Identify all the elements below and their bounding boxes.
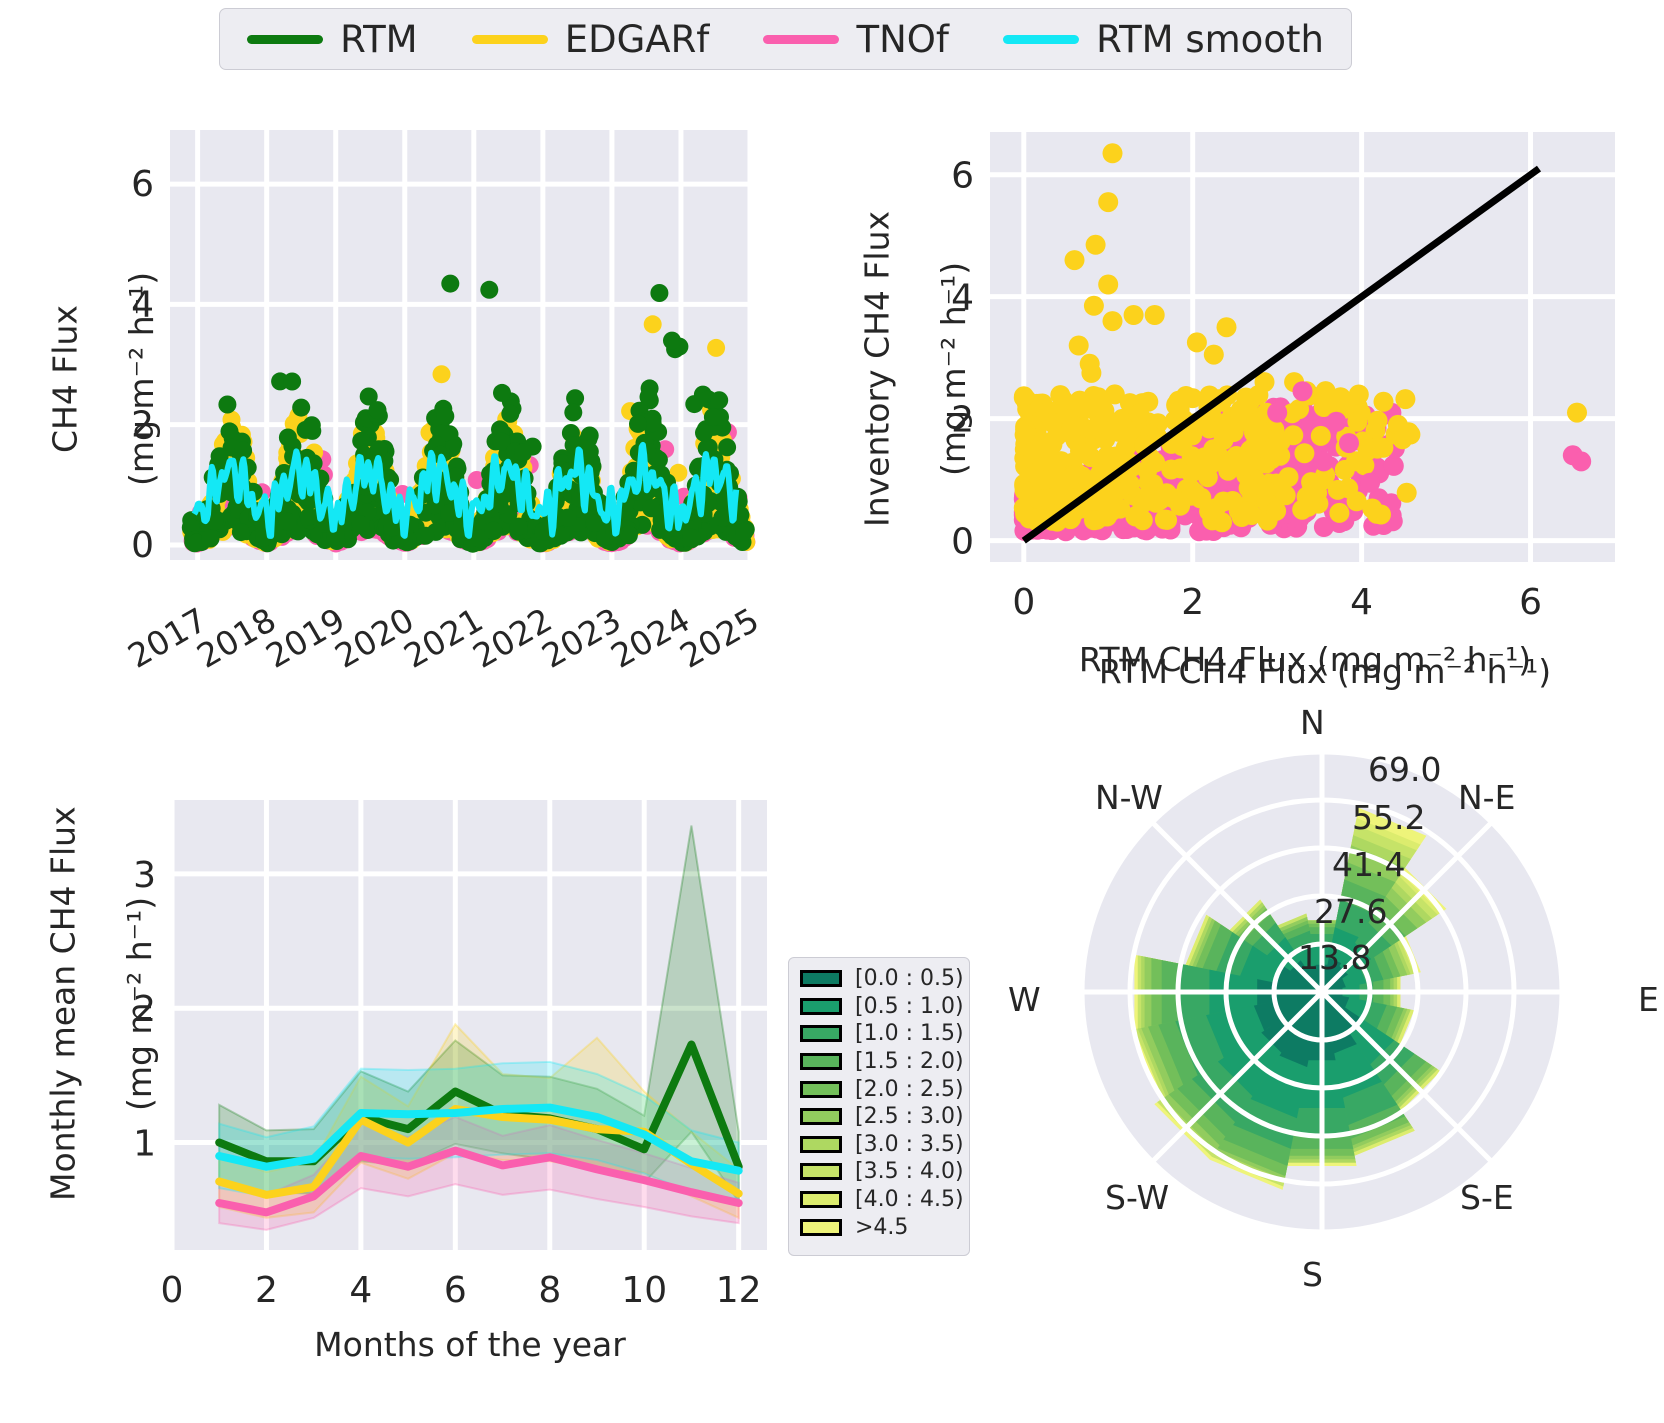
windrose-label-w: W — [1008, 980, 1041, 1019]
legend-label-rtm-smooth: RTM smooth — [1096, 21, 1324, 58]
svg-text:6: 6 — [1519, 582, 1542, 623]
svg-text:6: 6 — [131, 164, 154, 205]
timeseries-ylabel: CH4 Flux (mg m⁻² h⁻¹) — [8, 240, 199, 560]
windrose-rtick-13: 13.8 — [1298, 938, 1371, 977]
legend-line-swatch-tnof — [763, 35, 839, 44]
flux-bin-legend-row: [3.5 : 4.0) — [800, 1158, 969, 1186]
timeseries-ylabel-line1: CH4 Flux — [45, 305, 84, 453]
svg-text:8: 8 — [538, 1270, 561, 1311]
windrose-rtick-69: 69.0 — [1368, 750, 1441, 789]
legend-label-edgarf: EDGARf — [565, 21, 710, 58]
scatter-ylabel-line2: (mg m⁻² h⁻¹) — [934, 262, 973, 476]
flux-bin-swatch — [800, 998, 842, 1015]
flux-bin-label: [2.5 : 3.0) — [855, 1104, 964, 1129]
panel-monthly-mean: Monthly mean CH4 Flux (mg m⁻² h⁻¹) 123 0… — [0, 760, 800, 1423]
flux-bin-label: [0.5 : 1.0) — [855, 994, 964, 1019]
windrose-rtick-41: 41.4 — [1332, 845, 1405, 884]
flux-bin-label: [2.0 : 2.5) — [855, 1077, 964, 1102]
svg-text:10: 10 — [621, 1270, 667, 1311]
flux-bin-swatch — [800, 970, 842, 987]
legend-line-swatch-edgarf — [472, 35, 548, 44]
flux-bin-label: [1.5 : 2.0) — [855, 1049, 964, 1074]
flux-bin-legend-row: >4.5 — [800, 1213, 969, 1241]
flux-bin-legend-row: [1.0 : 1.5) — [800, 1020, 969, 1048]
flux-bin-legend-row: [2.0 : 2.5) — [800, 1075, 969, 1103]
legend-label-tnof: TNOf — [856, 21, 948, 58]
windrose-label-s: S — [1302, 1255, 1323, 1294]
flux-bin-swatch — [800, 1108, 842, 1125]
flux-bin-swatch — [800, 1025, 842, 1042]
windrose-title: RTM CH4 Flux (mg m⁻² h⁻¹) — [990, 652, 1660, 691]
windrose-rtick-55: 55.2 — [1352, 798, 1425, 837]
windrose-label-se: S-E — [1460, 1178, 1514, 1217]
panel-inventory-scatter: Inventory CH4 Flux (mg m⁻² h⁻¹) 0246 024… — [810, 100, 1664, 720]
scatter-ylabel-line1: Inventory CH4 Flux — [857, 211, 896, 527]
legend-item-rtm-smooth: RTM smooth — [1003, 21, 1324, 58]
legend-line-swatch-rtm — [247, 35, 323, 44]
svg-text:6: 6 — [444, 1270, 467, 1311]
windrose-label-ne: N-E — [1458, 778, 1515, 817]
flux-bin-label: >4.5 — [855, 1215, 908, 1240]
legend-item-rtm: RTM — [247, 21, 418, 58]
svg-text:4: 4 — [1350, 582, 1373, 623]
flux-bin-swatch — [800, 1191, 842, 1208]
flux-bin-legend-row: [4.0 : 4.5) — [800, 1186, 969, 1214]
flux-bin-label: [4.0 : 4.5) — [855, 1187, 964, 1212]
flux-bin-label: [3.0 : 3.5) — [855, 1132, 964, 1157]
windrose-svg — [980, 700, 1664, 1400]
flux-bin-legend-row: [1.5 : 2.0) — [800, 1048, 969, 1076]
flux-bin-legend-row: [2.5 : 3.0) — [800, 1103, 969, 1131]
windrose-label-n: N — [1300, 703, 1325, 742]
windrose-label-nw: N-W — [1095, 778, 1163, 817]
svg-text:12: 12 — [716, 1270, 762, 1311]
flux-bin-legend-row: [0.0 : 0.5) — [800, 965, 969, 993]
monthly-ylabel-line2: (mg m⁻² h⁻¹) — [120, 897, 159, 1111]
legend-line-swatch-rtm-smooth — [1003, 35, 1079, 44]
panel-timeseries: CH4 Flux (mg m⁻² h⁻¹) 0246 2017201820192… — [0, 100, 800, 700]
svg-text:6: 6 — [951, 156, 974, 197]
flux-bin-legend-row: [0.5 : 1.0) — [800, 993, 969, 1021]
flux-bin-swatch — [800, 1136, 842, 1153]
flux-bin-swatch — [800, 1163, 842, 1180]
timeseries-ylabel-line2: (mg m⁻² h⁻¹) — [122, 272, 161, 486]
flux-bin-swatch — [800, 1081, 842, 1098]
svg-text:2: 2 — [255, 1270, 278, 1311]
windrose-label-e: E — [1638, 980, 1659, 1019]
flux-bin-label: [3.5 : 4.0) — [855, 1159, 964, 1184]
scatter-ylabel: Inventory CH4 Flux (mg m⁻² h⁻¹) — [820, 210, 1011, 570]
svg-text:4: 4 — [349, 1270, 372, 1311]
windrose-label-sw: S-W — [1105, 1178, 1169, 1217]
flux-bin-swatch — [800, 1219, 842, 1236]
legend-label-rtm: RTM — [340, 21, 418, 58]
flux-bin-legend-row: [3.0 : 3.5) — [800, 1131, 969, 1159]
svg-text:2: 2 — [1181, 582, 1204, 623]
flux-bin-label: [0.0 : 0.5) — [855, 966, 964, 991]
svg-text:0: 0 — [1012, 582, 1035, 623]
monthly-ylabel: Monthly mean CH4 Flux (mg m⁻² h⁻¹) — [6, 790, 197, 1260]
series-legend: RTM EDGARf TNOf RTM smooth — [219, 8, 1352, 70]
flux-bin-legend: [0.0 : 0.5)[0.5 : 1.0)[1.0 : 1.5)[1.5 : … — [788, 957, 970, 1256]
legend-item-tnof: TNOf — [763, 21, 948, 58]
monthly-xlabel: Months of the year — [150, 1325, 790, 1364]
legend-item-edgarf: EDGARf — [472, 21, 710, 58]
panel-wind-rose: RTM CH4 Flux (mg m⁻² h⁻¹) N N-E E S-E S … — [980, 700, 1664, 1423]
svg-text:0: 0 — [161, 1270, 184, 1311]
windrose-rtick-27: 27.6 — [1314, 892, 1387, 931]
monthly-ylabel-line1: Monthly mean CH4 Flux — [43, 807, 82, 1202]
flux-bin-swatch — [800, 1053, 842, 1070]
flux-bin-label: [1.0 : 1.5) — [855, 1021, 964, 1046]
